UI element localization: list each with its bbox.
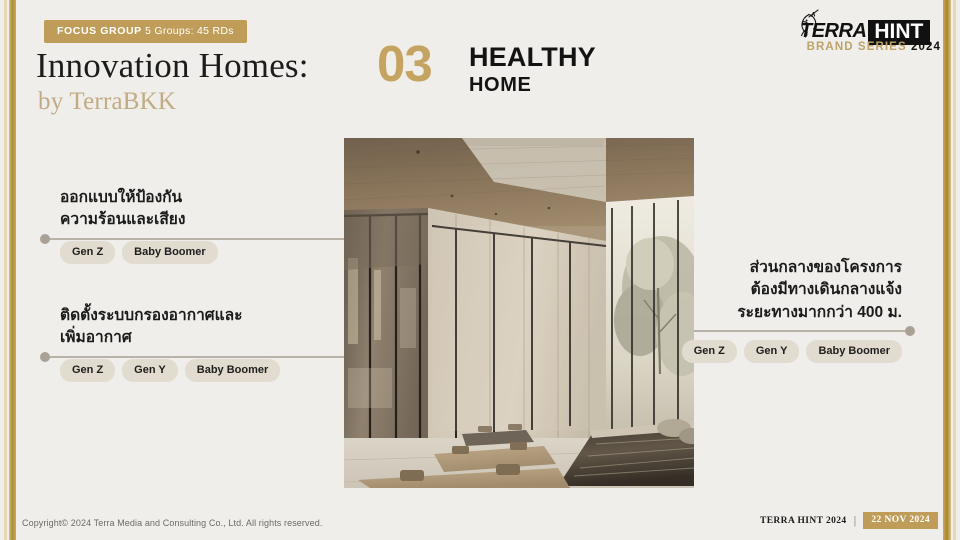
tag-gen-z[interactable]: Gen Z	[60, 359, 115, 382]
section-number: 03	[377, 38, 432, 89]
connector-dot-2	[40, 352, 50, 362]
interior-render-image	[344, 138, 694, 488]
footer-date-badge: 22 NOV 2024	[863, 512, 938, 529]
left-border-stripe-thin	[4, 0, 7, 540]
logo-tagline: BRAND SERIES 2024	[807, 41, 941, 53]
annotation-left-2-text: ติดตั้งระบบกรองอากาศและ เพิ่มอากาศ	[60, 305, 280, 350]
annotation-right-1: ส่วนกลางของโครงการ ต้องมีทางเดินกลางแจ้ง…	[682, 257, 902, 363]
tag-baby-boomer[interactable]: Baby Boomer	[185, 359, 281, 382]
annotation-left-2-tags: Gen Z Gen Y Baby Boomer	[60, 359, 280, 382]
terra-hint-logo: TERRA HINT BRAND SERIES 2024	[770, 8, 942, 54]
tag-gen-z[interactable]: Gen Z	[682, 340, 737, 363]
annotation-left-1-tags: Gen Z Baby Boomer	[60, 241, 218, 264]
right-gold-border	[942, 0, 960, 540]
annotation-left-2: ติดตั้งระบบกรองอากาศและ เพิ่มอากาศ Gen Z…	[60, 305, 280, 382]
connector-dot-3	[905, 326, 915, 336]
annotation-left-1-text: ออกแบบให้ป้องกัน ความร้อนและเสียง	[60, 187, 218, 232]
annotation-right-1-text: ส่วนกลางของโครงการ ต้องมีทางเดินกลางแจ้ง…	[682, 257, 902, 324]
page-title: Innovation Homes:	[36, 46, 309, 86]
footer-brand-label: TERRA HINT 2024	[760, 516, 847, 526]
connector-dot-1	[40, 234, 50, 244]
section-heading-line1: HEALTHY	[469, 44, 596, 72]
left-border-stripe-thick	[9, 0, 16, 540]
annotation-left-1: ออกแบบให้ป้องกัน ความร้อนและเสียง Gen Z …	[60, 187, 218, 264]
tag-gen-y[interactable]: Gen Y	[122, 359, 178, 382]
copyright-text: Copyright© 2024 Terra Media and Consulti…	[22, 518, 322, 528]
tag-gen-y[interactable]: Gen Y	[744, 340, 800, 363]
footer-separator: |	[854, 515, 857, 527]
left-gold-border	[0, 0, 18, 540]
focus-group-badge-bold: FOCUS GROUP	[57, 25, 142, 37]
page-subtitle: by TerraBKK	[38, 88, 176, 116]
right-border-stripe-thick	[943, 0, 951, 540]
section-heading-line2: HOME	[469, 75, 596, 95]
right-border-stripe-thin	[953, 0, 956, 540]
slide-canvas: FOCUS GROUP 5 Groups: 45 RDs Innovation …	[0, 0, 960, 540]
focus-group-badge-detail: 5 Groups: 45 RDs	[142, 25, 234, 37]
footer-meta: TERRA HINT 2024 | 22 NOV 2024	[760, 512, 938, 529]
tag-gen-z[interactable]: Gen Z	[60, 241, 115, 264]
logo-year: 2024	[911, 41, 941, 53]
section-heading: HEALTHY HOME	[469, 44, 596, 95]
annotation-right-1-tags: Gen Z Gen Y Baby Boomer	[682, 340, 902, 363]
focus-group-badge: FOCUS GROUP 5 Groups: 45 RDs	[44, 20, 247, 43]
logo-tagline-text: BRAND SERIES	[807, 41, 907, 53]
tag-baby-boomer[interactable]: Baby Boomer	[806, 340, 902, 363]
tag-baby-boomer[interactable]: Baby Boomer	[122, 241, 218, 264]
